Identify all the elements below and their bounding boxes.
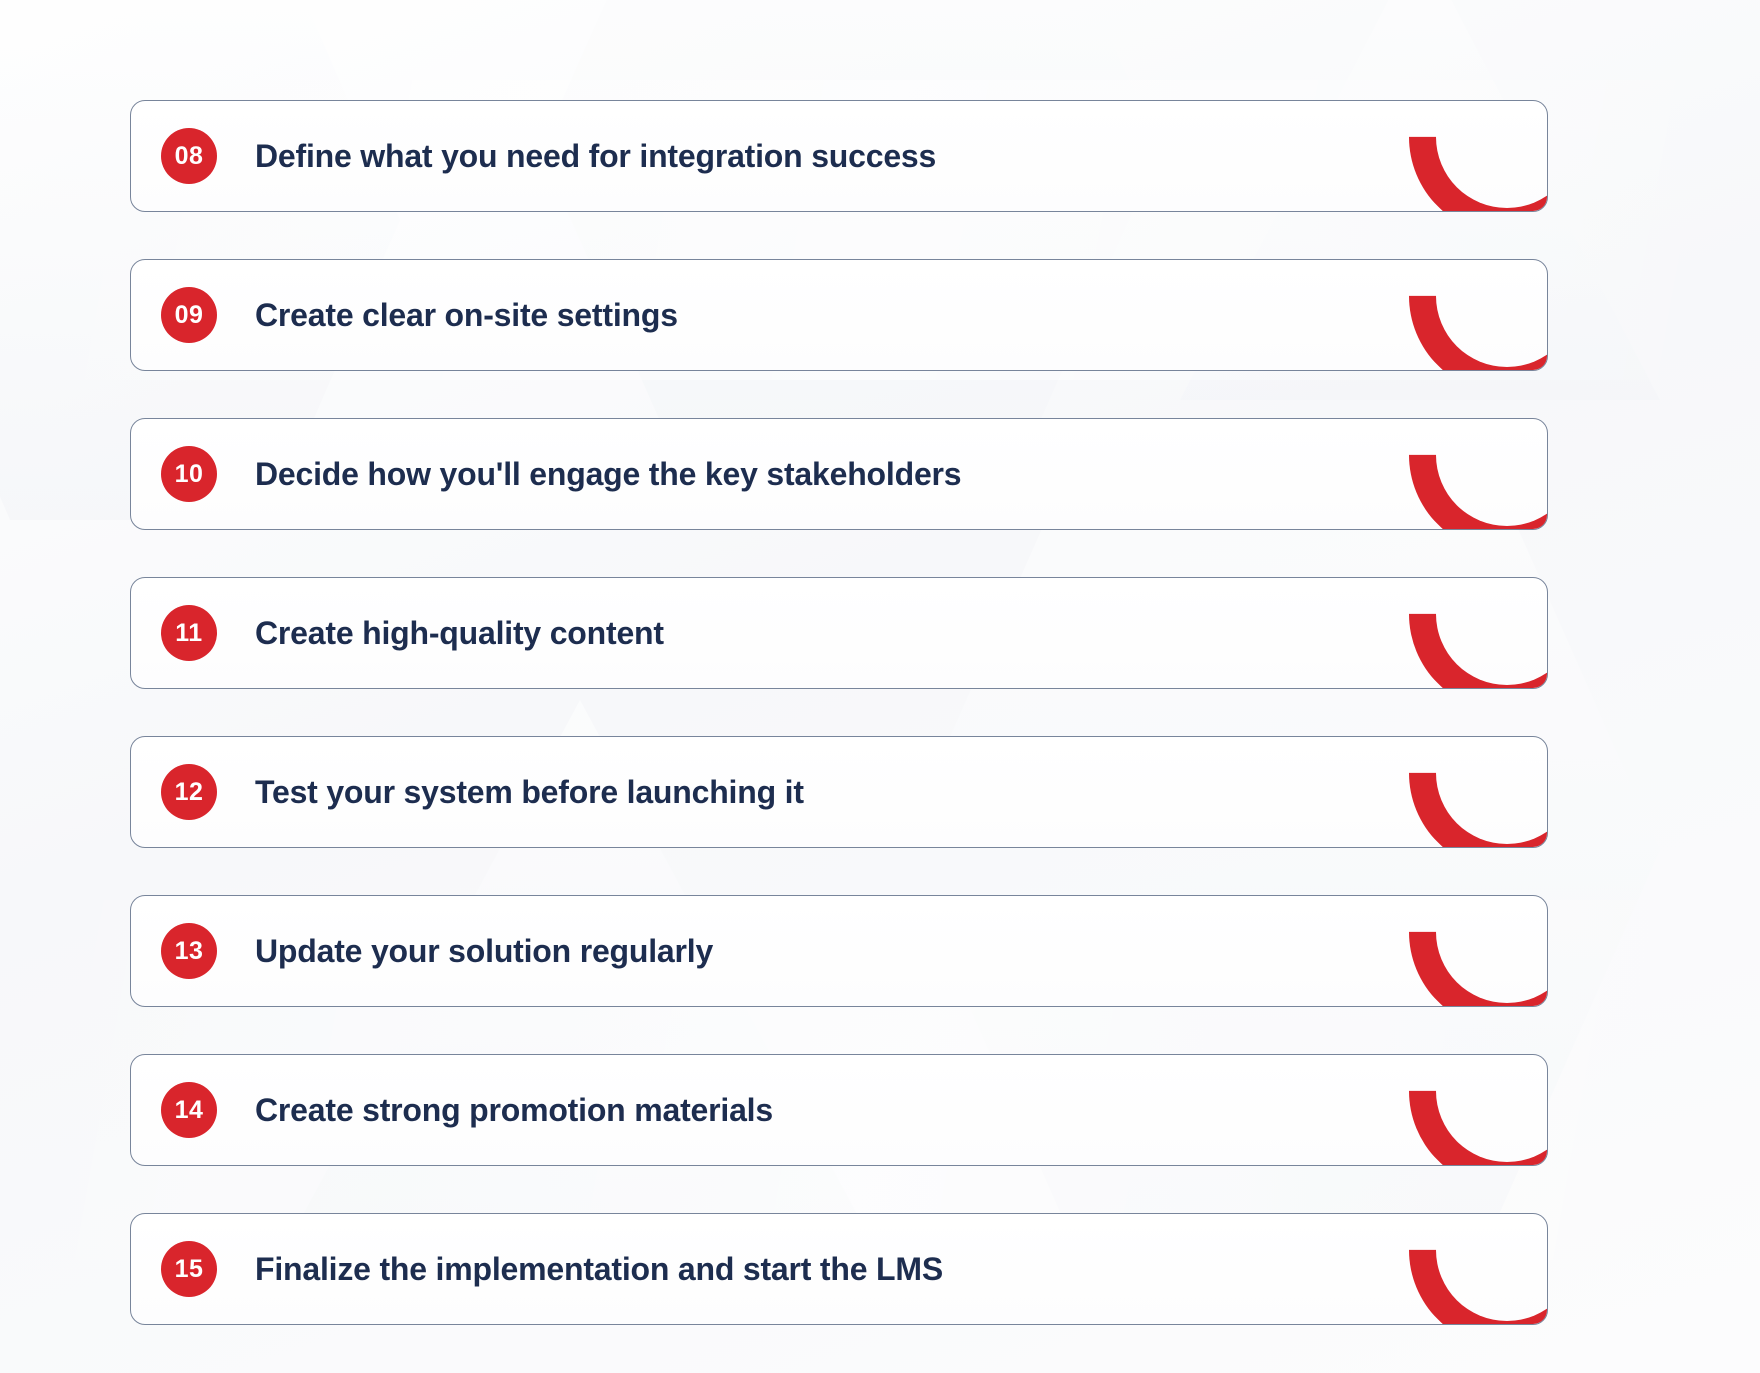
- steps-list: 08 Define what you need for integration …: [130, 100, 1548, 1325]
- step-number-badge: 08: [161, 128, 217, 184]
- step-number-badge: 14: [161, 1082, 217, 1138]
- arc-decoration: [1347, 578, 1547, 689]
- step-card[interactable]: 12 Test your system before launching it: [130, 736, 1548, 848]
- step-number-badge: 12: [161, 764, 217, 820]
- arc-decoration: [1347, 1055, 1547, 1166]
- step-title: Decide how you'll engage the key stakeho…: [255, 456, 961, 493]
- step-card[interactable]: 10 Decide how you'll engage the key stak…: [130, 418, 1548, 530]
- step-title: Create high-quality content: [255, 615, 664, 652]
- arc-decoration: [1347, 896, 1547, 1007]
- step-number-badge: 10: [161, 446, 217, 502]
- step-number-badge: 09: [161, 287, 217, 343]
- step-title: Create clear on-site settings: [255, 297, 678, 334]
- step-card[interactable]: 08 Define what you need for integration …: [130, 100, 1548, 212]
- step-title: Define what you need for integration suc…: [255, 138, 936, 175]
- arc-decoration: [1347, 1214, 1547, 1325]
- step-card[interactable]: 15 Finalize the implementation and start…: [130, 1213, 1548, 1325]
- step-title: Finalize the implementation and start th…: [255, 1251, 943, 1288]
- arc-decoration: [1347, 737, 1547, 848]
- step-title: Create strong promotion materials: [255, 1092, 773, 1129]
- step-title: Update your solution regularly: [255, 933, 713, 970]
- step-card[interactable]: 09 Create clear on-site settings: [130, 259, 1548, 371]
- step-card[interactable]: 11 Create high-quality content: [130, 577, 1548, 689]
- arc-decoration: [1347, 419, 1547, 530]
- step-title: Test your system before launching it: [255, 774, 804, 811]
- step-number-badge: 11: [161, 605, 217, 661]
- arc-decoration: [1347, 260, 1547, 371]
- step-card[interactable]: 13 Update your solution regularly: [130, 895, 1548, 1007]
- step-card[interactable]: 14 Create strong promotion materials: [130, 1054, 1548, 1166]
- step-number-badge: 13: [161, 923, 217, 979]
- step-number-badge: 15: [161, 1241, 217, 1297]
- arc-decoration: [1347, 101, 1547, 212]
